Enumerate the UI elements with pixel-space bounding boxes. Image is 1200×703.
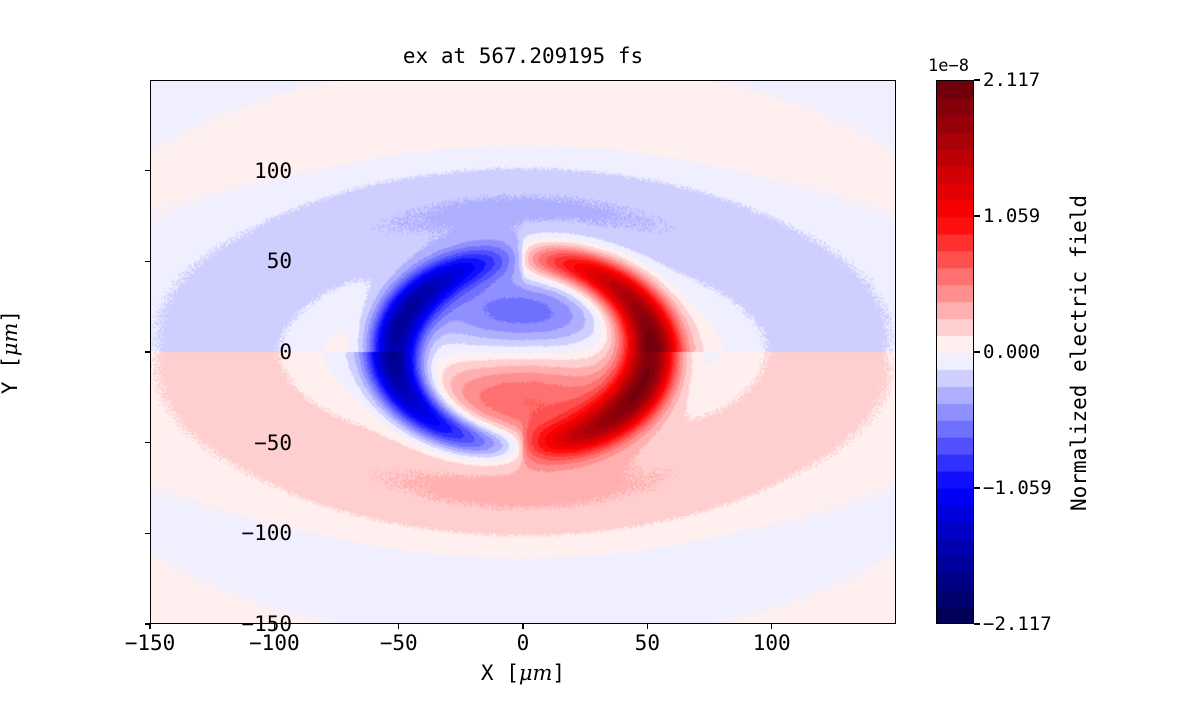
y-tick-label: −100 — [172, 521, 292, 545]
y-tick-label: −150 — [172, 612, 292, 636]
y-tick-label: 50 — [172, 249, 292, 273]
colorbar-tick — [974, 487, 980, 489]
colorbar-tick-label: −2.117 — [983, 613, 1052, 635]
x-tick-label: 100 — [712, 631, 832, 655]
x-tick-label: 50 — [587, 631, 707, 655]
colorbar-tick — [974, 351, 980, 353]
figure-canvas: ex at 567.209195 fs X [μm] Y [μm] 1e−8 N… — [0, 0, 1200, 700]
colorbar-tick — [974, 215, 980, 217]
y-tick-label: 100 — [172, 159, 292, 183]
colorbar-tick-label: −1.059 — [983, 477, 1052, 499]
y-tick — [145, 170, 150, 172]
y-tick — [145, 261, 150, 263]
colorbar-label: Normalized electric field — [1067, 3, 1091, 703]
colorbar-tick-label: 0.000 — [983, 341, 1040, 363]
x-tick — [771, 624, 773, 629]
colorbar-tick-label: 1.059 — [983, 205, 1040, 227]
y-tick — [145, 533, 150, 535]
colorbar[interactable] — [936, 80, 974, 624]
x-tick — [522, 624, 524, 629]
x-tick-label: −50 — [339, 631, 459, 655]
y-axis-label-container: Y [μm] — [0, 0, 34, 700]
y-tick-label: −50 — [172, 431, 292, 455]
colorbar-label-container: Normalized electric field — [1062, 0, 1096, 700]
colorbar-gradient — [937, 81, 973, 623]
page-title: ex at 567.209195 fs — [150, 44, 896, 68]
x-axis-label: X [μm] — [150, 661, 896, 685]
colorbar-tick — [974, 79, 980, 81]
y-tick — [145, 442, 150, 444]
y-axis-label: Y [μm] — [0, 2, 22, 702]
x-tick-label: 0 — [463, 631, 583, 655]
colorbar-tick — [974, 623, 980, 625]
y-tick-label: 0 — [172, 340, 292, 364]
x-tick — [647, 624, 649, 629]
colorbar-offset-text: 1e−8 — [928, 57, 969, 76]
y-tick — [145, 351, 150, 353]
x-tick — [398, 624, 400, 629]
y-tick — [145, 623, 150, 625]
colorbar-tick-label: 2.117 — [983, 69, 1040, 91]
